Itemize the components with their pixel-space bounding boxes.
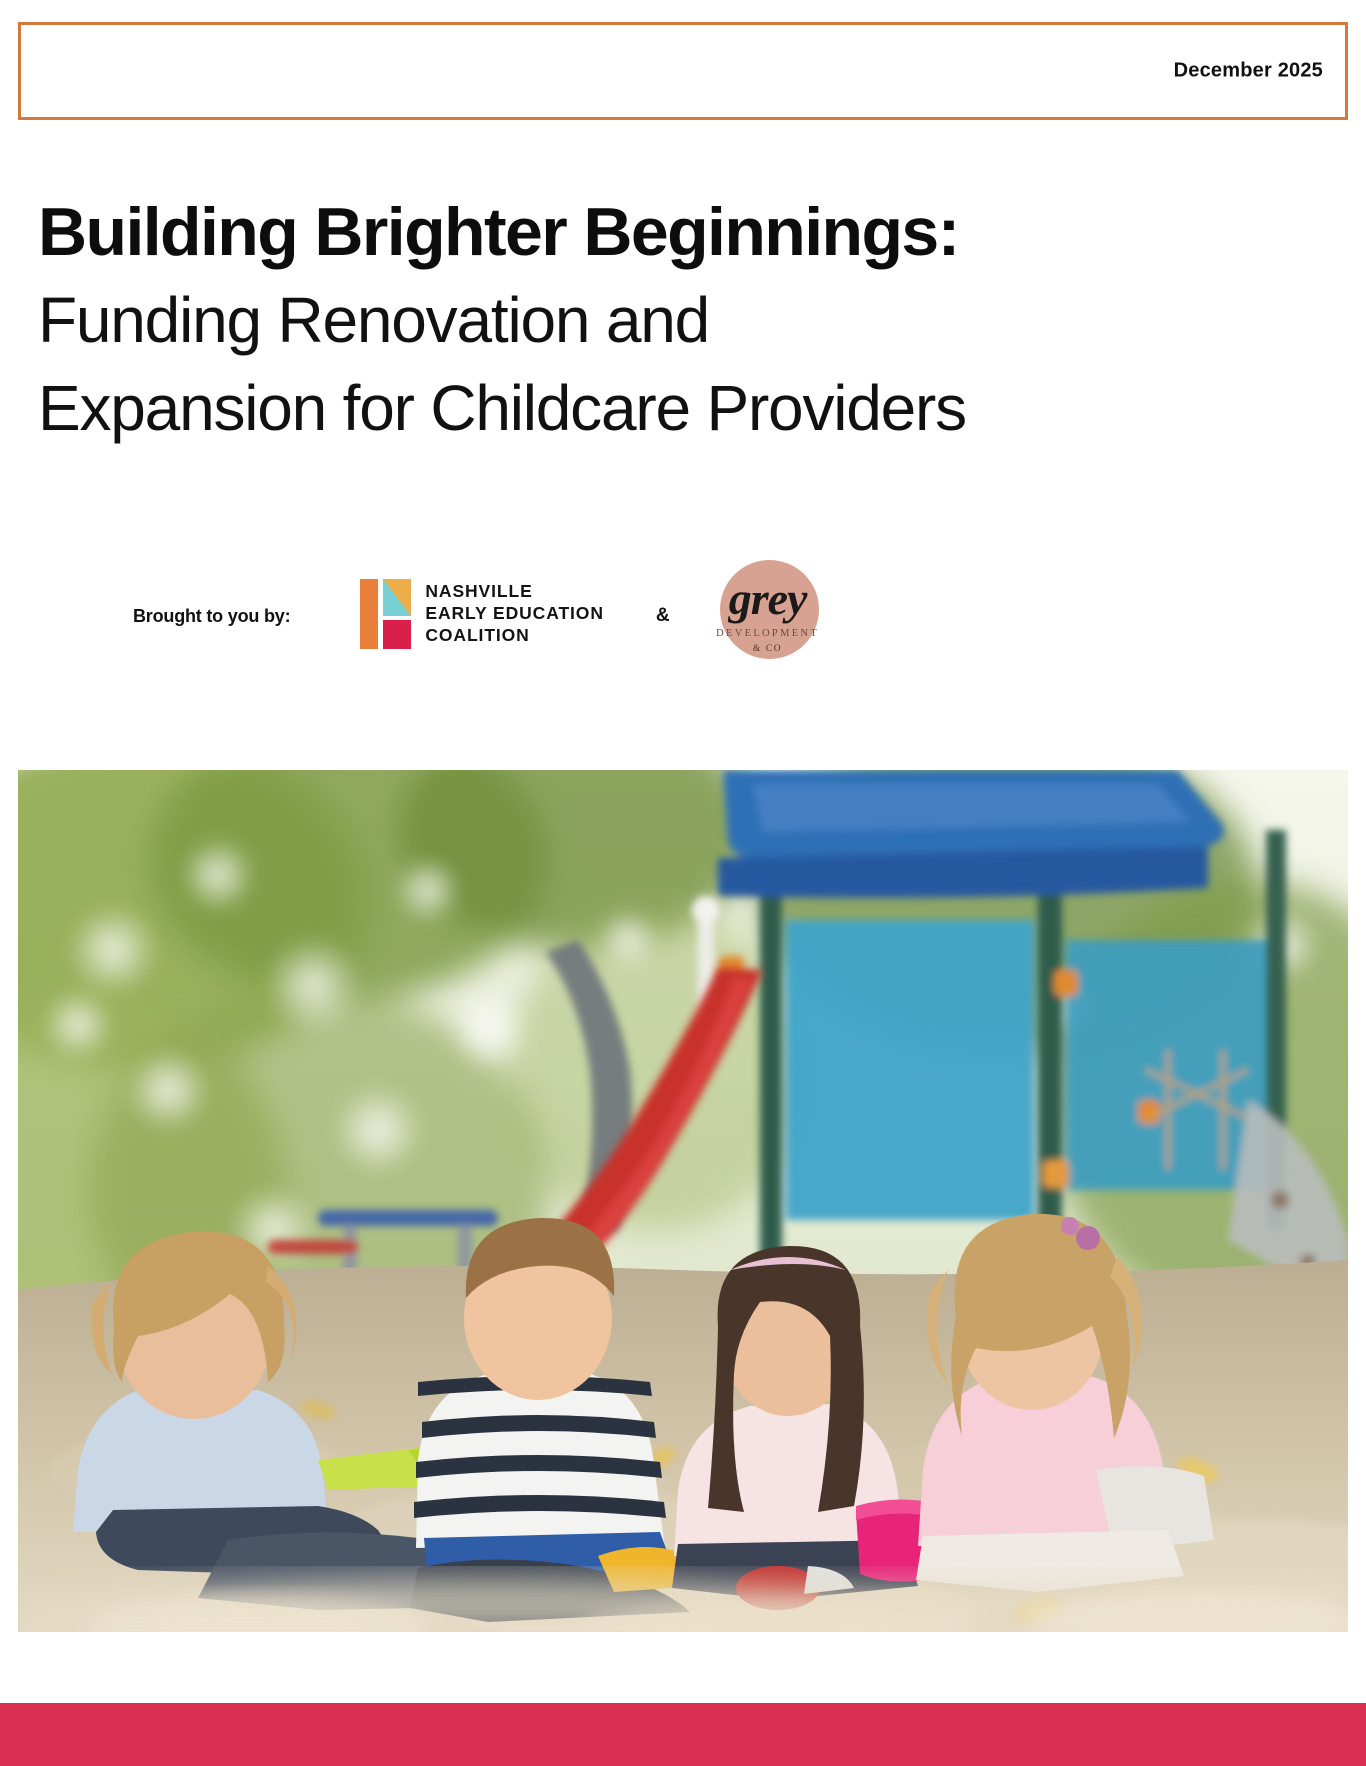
brought-to-you-by-row: Brought to you by: NASHVILLE EARLY EDUCA… <box>133 560 822 668</box>
footer-accent-bar <box>0 1703 1366 1766</box>
ampersand-separator: & <box>656 605 670 627</box>
cover-photo <box>18 770 1348 1632</box>
document-date: December 2025 <box>1174 60 1323 83</box>
neec-gold-teal-diagonal-icon <box>383 579 411 616</box>
page-title: Building Brighter Beginnings: Funding Re… <box>38 196 1328 453</box>
header-box: December 2025 <box>18 22 1348 120</box>
title-line-primary: Building Brighter Beginnings: <box>38 196 1328 268</box>
neec-wordmark: NASHVILLE EARLY EDUCATION COALITION <box>425 581 603 646</box>
title-line-tertiary: Expansion for Childcare Providers <box>38 364 1328 452</box>
title-line-secondary: Funding Renovation and <box>38 276 1328 364</box>
neec-orange-bar-icon <box>360 579 378 649</box>
grey-wordmark: grey <box>714 576 822 622</box>
grey-development-logo: grey DEVELOPMENT & CO <box>714 560 822 668</box>
cover-photo-illustration <box>18 770 1348 1632</box>
brought-to-you-by-label: Brought to you by: <box>133 606 290 627</box>
neec-wordmark-line-3: COALITION <box>425 625 603 647</box>
neec-logo-mark-icon <box>360 579 411 649</box>
grey-logo-subtitle: DEVELOPMENT <box>714 628 822 639</box>
neec-wordmark-line-2: EARLY EDUCATION <box>425 603 603 625</box>
neec-wordmark-line-1: NASHVILLE <box>425 581 603 603</box>
grey-logo-and-co: & CO <box>714 644 822 654</box>
nashville-early-education-coalition-logo: NASHVILLE EARLY EDUCATION COALITION <box>360 579 603 649</box>
neec-crimson-square-icon <box>383 620 411 649</box>
